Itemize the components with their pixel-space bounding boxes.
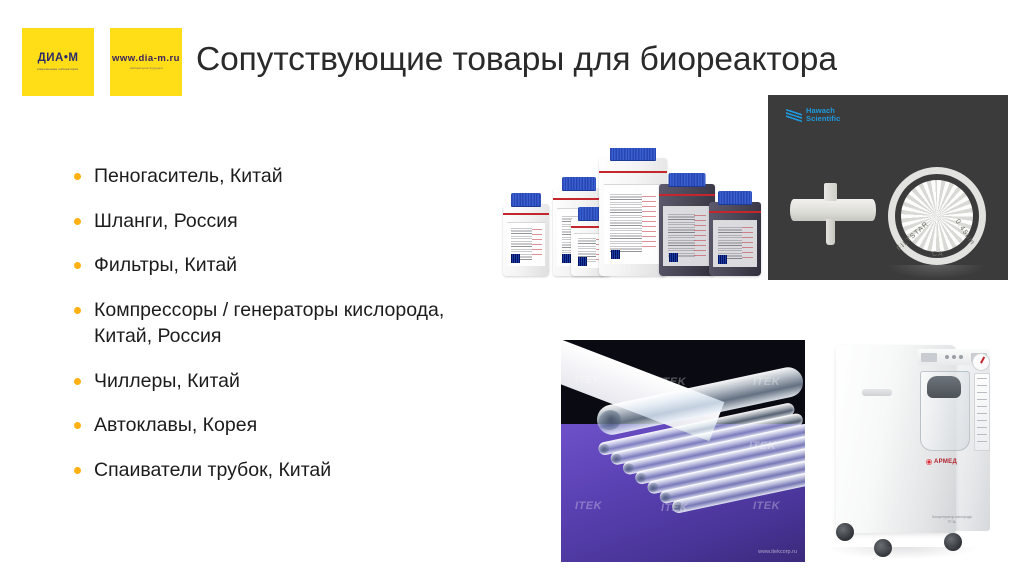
reagent-bottles-photo <box>491 148 779 282</box>
dia-m-website-logo-tagline: лаборатория будущего <box>129 66 163 70</box>
bottle-label-lines <box>610 194 642 252</box>
bullet-dot-icon <box>74 378 81 385</box>
bottle-hazard-pictograms <box>642 196 657 251</box>
filter-printed-text: FILTSTAR CA 0.45um <box>888 167 986 265</box>
syringe-filter-side-view <box>790 199 876 221</box>
bottle-qr-code <box>611 250 620 259</box>
concentrator-model-line2: 7F-5L <box>922 520 982 525</box>
list-item: Чиллеры, Китай <box>68 369 488 395</box>
dia-m-logo: ДИА•М современная лаборатория <box>22 28 94 96</box>
list-item: Автоклавы, Корея <box>68 413 488 439</box>
filter-text-filtstar: FILTSTAR <box>896 221 930 253</box>
concentrator-buttons <box>945 355 963 359</box>
bullet-dot-icon <box>74 218 81 225</box>
list-item: Компрессоры / генераторы кислорода, Кита… <box>68 298 488 349</box>
concentrator-handle <box>862 389 892 396</box>
list-item-label: Шланги, Россия <box>94 209 488 235</box>
filter-text-material: CA <box>932 251 944 258</box>
concentrator-display <box>921 353 937 362</box>
bottle-label <box>507 222 546 266</box>
flow-meter-ticks <box>977 378 987 446</box>
tubing-bore <box>647 482 660 493</box>
filter-text-pore-size: 0.45um <box>954 218 976 246</box>
itek-watermark: ITEK <box>575 500 602 512</box>
dia-m-website-logo-text: www.dia-m.ru <box>112 54 180 64</box>
bottle-qr-code <box>578 257 587 266</box>
bottle-cap <box>511 193 541 207</box>
bottle-qr-code <box>718 255 727 264</box>
page-title: Сопутствующие товары для биореактора <box>196 42 1012 79</box>
reagent-bottle <box>599 158 667 276</box>
bullet-dot-icon <box>74 422 81 429</box>
bottle-cap <box>610 148 656 161</box>
bottle-qr-code <box>511 254 520 263</box>
concentrator-pressure-gauge <box>972 353 990 371</box>
bottle-label-lines <box>668 214 694 258</box>
reagent-bottle <box>503 204 549 276</box>
list-item-label: Чиллеры, Китай <box>94 369 488 395</box>
bottle-red-stripe <box>503 213 549 215</box>
list-item-label: Фильтры, Китай <box>94 253 488 279</box>
bottle-red-stripe <box>709 211 761 213</box>
bottle-label <box>663 206 710 266</box>
tubing-bore <box>610 453 623 464</box>
bottle-cap <box>562 177 596 191</box>
list-item-label: Автоклавы, Корея <box>94 413 488 439</box>
bullet-dot-icon <box>74 173 81 180</box>
itek-watermark: ITEK <box>659 376 686 388</box>
itek-watermark: ITEK <box>575 374 602 386</box>
concentrator-caster-wheel <box>836 523 854 541</box>
bottle-hazard-pictograms <box>694 215 706 256</box>
hawach-logo-line2: Scientific <box>806 115 840 123</box>
hawach-mark-icon <box>786 108 802 123</box>
itek-website-watermark: www.itekcorp.ru <box>758 549 797 555</box>
tubing-bore <box>622 463 635 474</box>
tubing-bore <box>659 491 672 502</box>
bottle-red-stripe <box>659 194 715 196</box>
silicone-tubing-photo: ITEK ITEK ITEK ITEK ITEK ITEK ITEK www.i… <box>561 340 805 562</box>
itek-watermark: ITEK <box>753 500 780 512</box>
filter-inlet-nozzle <box>824 183 837 201</box>
hawach-scientific-logo: Hawach Scientific <box>786 107 840 124</box>
product-list: Пеногаситель, Китай Шланги, Россия Фильт… <box>68 164 488 503</box>
bottle-label <box>604 184 661 264</box>
list-item-label: Пеногаситель, Китай <box>94 164 488 190</box>
tubing-bore <box>635 472 648 483</box>
dia-m-website-logo: www.dia-m.ru лаборатория будущего <box>110 28 182 96</box>
bottle-red-stripe <box>599 171 667 173</box>
concentrator-shadow <box>828 547 978 559</box>
concentrator-button[interactable] <box>945 355 949 359</box>
reagent-bottle <box>709 202 761 276</box>
bullet-dot-icon <box>74 467 81 474</box>
dia-m-logo-tagline: современная лаборатория <box>37 67 78 71</box>
syringe-filters-photo: Hawach Scientific FILTSTAR CA 0.45um <box>768 95 1008 280</box>
filter-reflection <box>886 265 986 279</box>
list-item-label: Компрессоры / генераторы кислорода, Кита… <box>94 298 488 349</box>
bottle-hazard-pictograms <box>742 227 753 259</box>
syringe-filter-front-view: FILTSTAR CA 0.45um <box>888 167 986 265</box>
tubing-bore <box>598 443 611 454</box>
bottle-label <box>713 220 757 267</box>
list-item-label: Спаиватели трубок, Китай <box>94 458 488 484</box>
concentrator-model-label: Концентратор кислорода 7F-5L <box>922 515 982 525</box>
armed-logo-mark-icon <box>926 459 932 465</box>
itek-watermark: ITEK <box>661 502 688 514</box>
dia-m-logo-text: ДИА•М <box>38 53 79 65</box>
bullet-dot-icon <box>74 262 81 269</box>
concentrator-humidifier-bottle <box>920 371 970 451</box>
itek-watermark: ITEK <box>749 440 776 452</box>
oxygen-concentrator-photo: АРМЕД Концентратор кислорода 7F-5L <box>822 337 1008 562</box>
filter-outlet-nozzle <box>826 219 835 245</box>
concentrator-flow-meter <box>974 373 990 451</box>
hawach-logo-text: Hawach Scientific <box>806 107 840 124</box>
bottle-cap <box>718 191 752 205</box>
list-item: Фильтры, Китай <box>68 253 488 279</box>
list-item: Пеногаситель, Китай <box>68 164 488 190</box>
bottle-qr-code <box>669 253 678 262</box>
concentrator-button[interactable] <box>952 355 956 359</box>
bullet-dot-icon <box>74 307 81 314</box>
armed-brand-text: АРМЕД <box>934 459 957 465</box>
armed-brand-logo: АРМЕД <box>926 459 957 465</box>
list-item: Шланги, Россия <box>68 209 488 235</box>
bottle-cap <box>669 173 706 187</box>
humidifier-cap <box>927 376 961 398</box>
bottle-red-stripe <box>553 198 605 200</box>
gauge-needle <box>980 356 985 363</box>
list-item: Спаиватели трубок, Китай <box>68 458 488 484</box>
bottle-hazard-pictograms <box>532 229 542 259</box>
concentrator-button[interactable] <box>959 355 963 359</box>
reagent-bottle <box>659 184 715 276</box>
itek-watermark: ITEK <box>753 376 780 388</box>
